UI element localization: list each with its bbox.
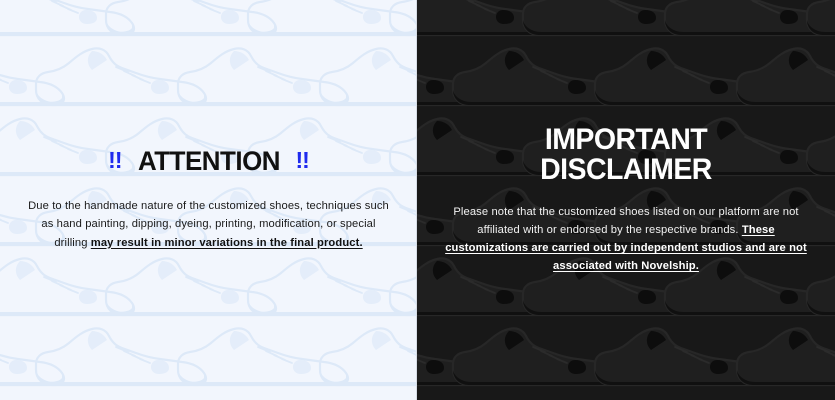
disclaimer-heading-line-2: DISCLAIMER — [452, 155, 800, 186]
attention-panel: !! ATTENTION !! Due to the handmade natu… — [0, 0, 417, 400]
attention-content: !! ATTENTION !! Due to the handmade natu… — [0, 148, 417, 251]
panel-divider — [416, 0, 417, 400]
disclaimer-heading-line-1: IMPORTANT — [452, 125, 800, 156]
attention-body-emphasis: may result in minor variations in the fi… — [91, 237, 363, 249]
exclamation-left-icon: !! — [108, 149, 121, 172]
disclaimer-panel: IMPORTANT DISCLAIMER Please note that th… — [417, 0, 835, 400]
disclaimer-content: IMPORTANT DISCLAIMER Please note that th… — [417, 125, 835, 276]
disclaimer-heading: IMPORTANT DISCLAIMER — [452, 125, 800, 186]
attention-body-text: Due to the handmade nature of the custom… — [26, 197, 391, 251]
attention-heading: ATTENTION — [137, 148, 279, 175]
attention-headline-row: !! ATTENTION !! — [26, 148, 391, 175]
customization-notice-banner: !! ATTENTION !! Due to the handmade natu… — [0, 0, 835, 400]
exclamation-right-icon: !! — [295, 149, 308, 172]
disclaimer-body-text: Please note that the customized shoes li… — [443, 203, 809, 276]
